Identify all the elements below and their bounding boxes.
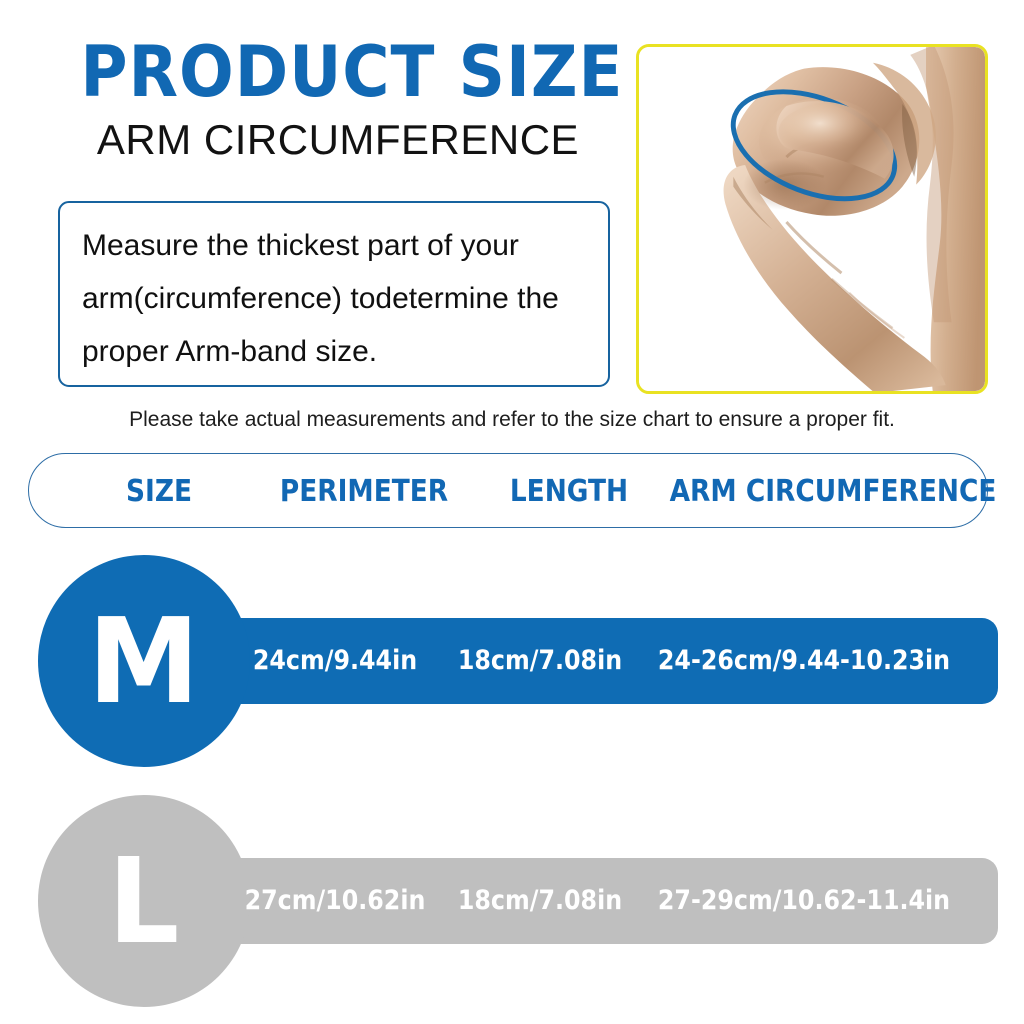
title-block: PRODUCT SIZE ARM CIRCUMFERENCE (58, 34, 618, 166)
size-label-m: M (88, 602, 200, 720)
disclaimer-text: Please take actual measurements and refe… (0, 406, 1024, 434)
cell-arm-circumference-m: 24-26cm/9.44-10.23in (628, 618, 980, 704)
instruction-box: Measure the thickest part of your arm(ci… (58, 201, 610, 387)
flexed-arm-photo (639, 47, 985, 391)
cell-arm-circumference-l: 27-29cm/10.62-11.4in (628, 858, 980, 944)
table-row: L 27cm/10.62in 18cm/7.08in 27-29cm/10.62… (0, 795, 1024, 1007)
cell-perimeter-l: 27cm/10.62in (229, 858, 440, 944)
cell-length-l: 18cm/7.08in (452, 858, 628, 944)
page-subtitle: ARM CIRCUMFERENCE (58, 114, 618, 166)
table-header-row: SIZE PERIMETER LENGTH ARM CIRCUMFERENCE (28, 453, 988, 528)
size-label-l: L (108, 842, 179, 960)
table-row: M 24cm/9.44in 18cm/7.08in 24-26cm/9.44-1… (0, 555, 1024, 767)
size-badge-m: M (38, 555, 250, 767)
page-title: PRODUCT SIZE (80, 34, 595, 110)
column-header-size: SIZE (97, 454, 220, 529)
size-badge-l: L (38, 795, 250, 1007)
column-header-arm-circumference: ARM CIRCUMFERENCE (657, 454, 1009, 529)
cell-perimeter-m: 24cm/9.44in (229, 618, 440, 704)
arm-photo-panel (636, 44, 988, 394)
column-header-length: LENGTH (481, 454, 657, 529)
cell-length-m: 18cm/7.08in (452, 618, 628, 704)
instruction-text: Measure the thickest part of your arm(ci… (82, 219, 586, 378)
column-header-perimeter: PERIMETER (258, 454, 469, 529)
